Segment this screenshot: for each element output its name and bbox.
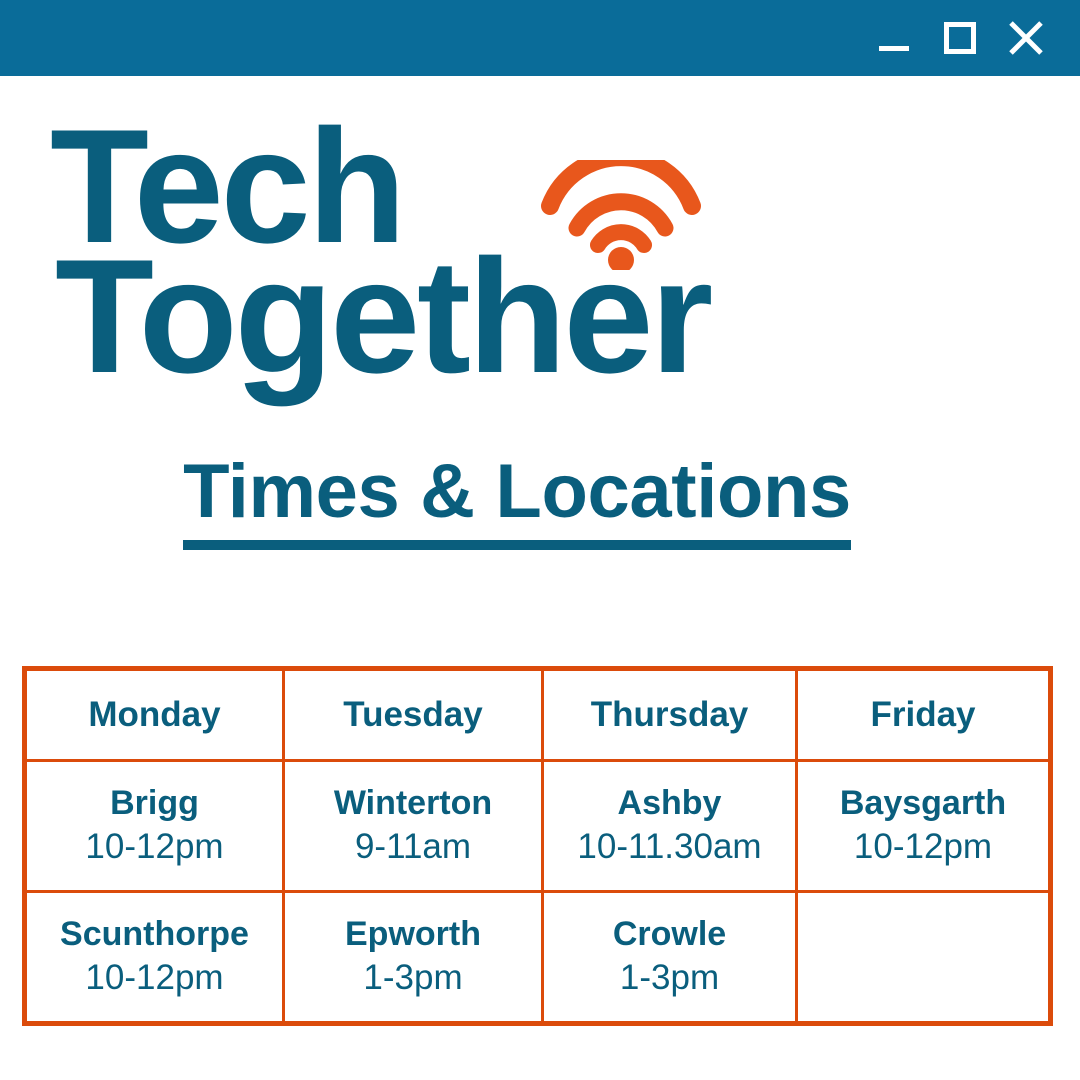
- cell-time-range: 10-12pm: [27, 825, 282, 869]
- cell-place-name: Crowle: [544, 914, 795, 955]
- column-header-monday: Monday: [25, 669, 284, 761]
- maximize-icon: [940, 18, 980, 58]
- cell-place-name: Baysgarth: [798, 783, 1048, 824]
- cell-time-range: 10-12pm: [27, 956, 282, 1000]
- cell-time-range: 1-3pm: [285, 956, 541, 1000]
- schedule-table: Monday Tuesday Thursday Friday Brigg 10-…: [22, 666, 1053, 1026]
- column-header-thursday: Thursday: [543, 669, 797, 761]
- page-title-text: Times & Locations: [183, 452, 851, 550]
- cell-place-name: Scunthorpe: [27, 914, 282, 955]
- cell-time-range: 10-11.30am: [544, 825, 795, 869]
- schedule-table-container: Monday Tuesday Thursday Friday Brigg 10-…: [22, 666, 1048, 1026]
- table-row: Brigg 10-12pm Winterton 9-11am Ashby 10-…: [25, 761, 1051, 892]
- cell-place-name: Brigg: [27, 783, 282, 824]
- table-row: Scunthorpe 10-12pm Epworth 1-3pm Crowle …: [25, 892, 1051, 1024]
- cell-place-name: Epworth: [285, 914, 541, 955]
- window-titlebar: [0, 0, 1080, 76]
- close-button[interactable]: [1006, 18, 1046, 58]
- minimize-button[interactable]: [874, 18, 914, 58]
- brand-logo: Tech Together: [50, 112, 750, 392]
- cell-place-name: Ashby: [544, 783, 795, 824]
- schedule-cell: Epworth 1-3pm: [284, 892, 543, 1024]
- window-controls-group: [874, 18, 1046, 58]
- schedule-cell: Ashby 10-11.30am: [543, 761, 797, 892]
- column-header-tuesday: Tuesday: [284, 669, 543, 761]
- minimize-icon: [874, 18, 914, 58]
- schedule-cell: Crowle 1-3pm: [543, 892, 797, 1024]
- wifi-icon: [536, 160, 706, 270]
- schedule-cell: Brigg 10-12pm: [25, 761, 284, 892]
- cell-time-range: 10-12pm: [798, 825, 1048, 869]
- table-header-row: Monday Tuesday Thursday Friday: [25, 669, 1051, 761]
- maximize-button[interactable]: [940, 18, 980, 58]
- schedule-cell: Winterton 9-11am: [284, 761, 543, 892]
- schedule-cell-empty: [797, 892, 1051, 1024]
- cell-time-range: 1-3pm: [544, 956, 795, 1000]
- schedule-cell: Baysgarth 10-12pm: [797, 761, 1051, 892]
- cell-place-name: Winterton: [285, 783, 541, 824]
- close-icon: [1006, 18, 1046, 58]
- schedule-cell: Scunthorpe 10-12pm: [25, 892, 284, 1024]
- cell-time-range: 9-11am: [285, 825, 541, 869]
- page-title: Times & Locations: [0, 452, 1080, 550]
- column-header-friday: Friday: [797, 669, 1051, 761]
